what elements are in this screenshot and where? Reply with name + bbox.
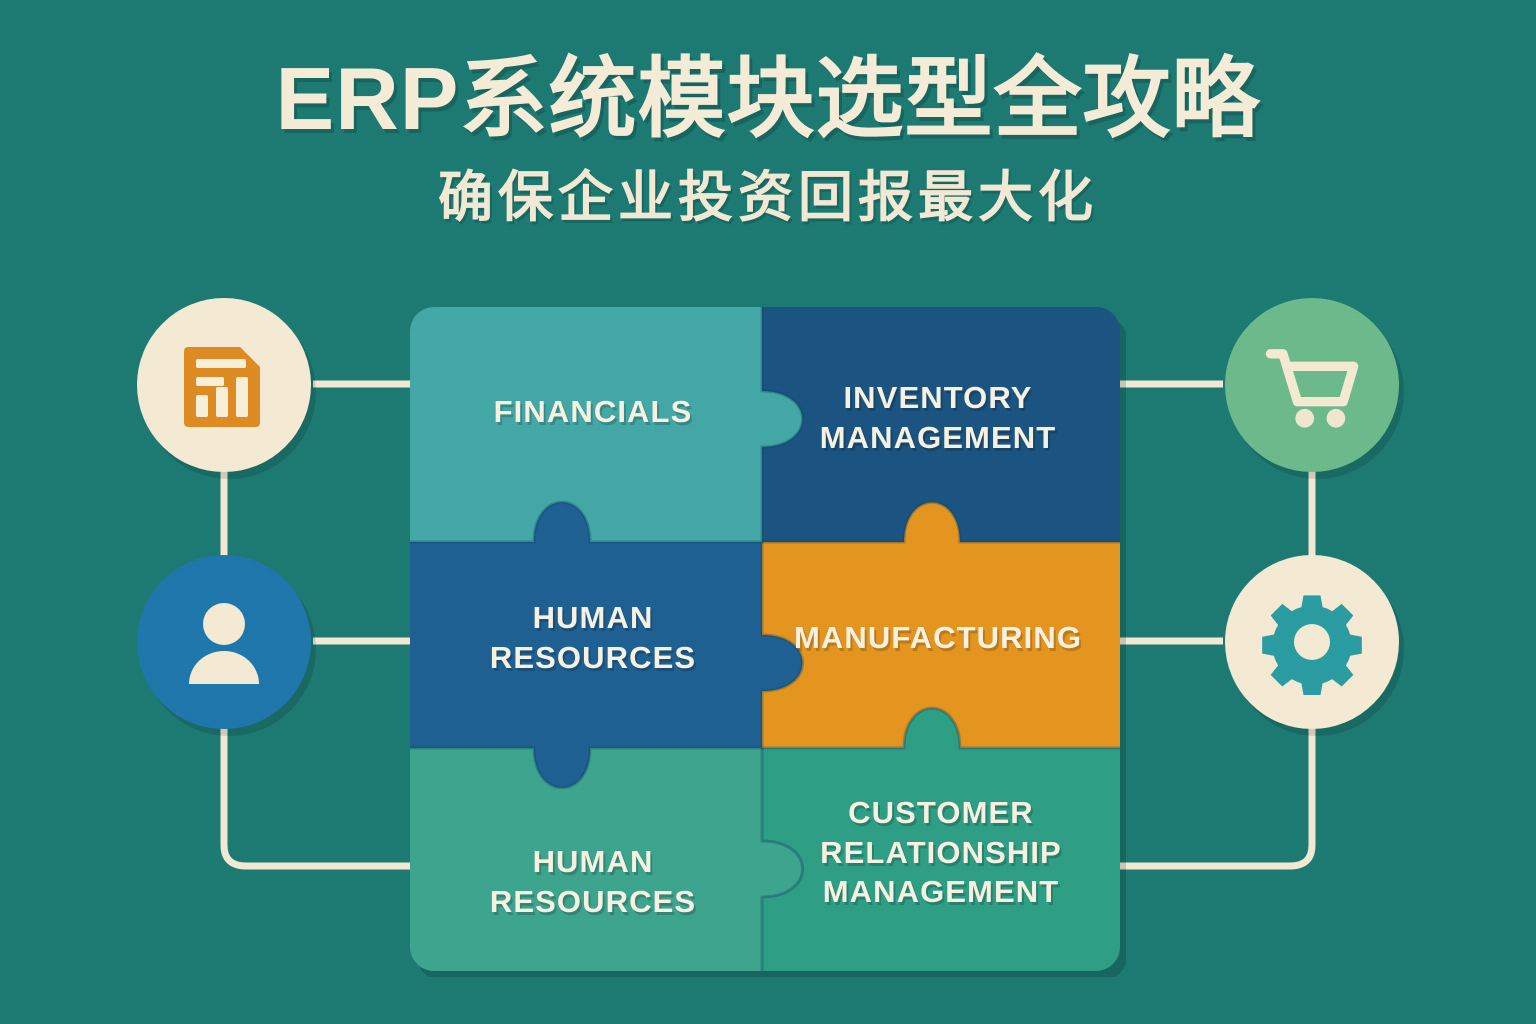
icon-badge-gear[interactable]: [1225, 555, 1399, 729]
shopping-cart-icon: [1260, 333, 1364, 437]
icon-badge-user[interactable]: [137, 555, 311, 729]
puzzle-piece-customer-relationship-management[interactable]: [762, 748, 1120, 971]
report-chart-icon: [174, 335, 274, 435]
puzzle-piece-manufacturing[interactable]: [762, 542, 1120, 748]
connector-gear-to-crm: [1113, 726, 1312, 866]
puzzle-piece-human-resources[interactable]: [410, 542, 762, 748]
icon-badge-shopping-cart[interactable]: [1225, 298, 1399, 472]
user-icon: [174, 592, 274, 692]
puzzle-piece-human-resources-bottom[interactable]: [410, 748, 762, 971]
gear-icon: [1259, 589, 1365, 695]
puzzle-piece-inventory-management[interactable]: [762, 307, 1120, 542]
puzzle-piece-financials[interactable]: [410, 307, 762, 542]
connector-user-to-hr-bottom: [224, 726, 410, 866]
icon-badge-financial-report[interactable]: [137, 298, 311, 472]
puzzle-board: [404, 301, 1126, 977]
infographic-canvas: ERP系统模块选型全攻略 确保企业投资回报最大化: [0, 0, 1536, 1024]
